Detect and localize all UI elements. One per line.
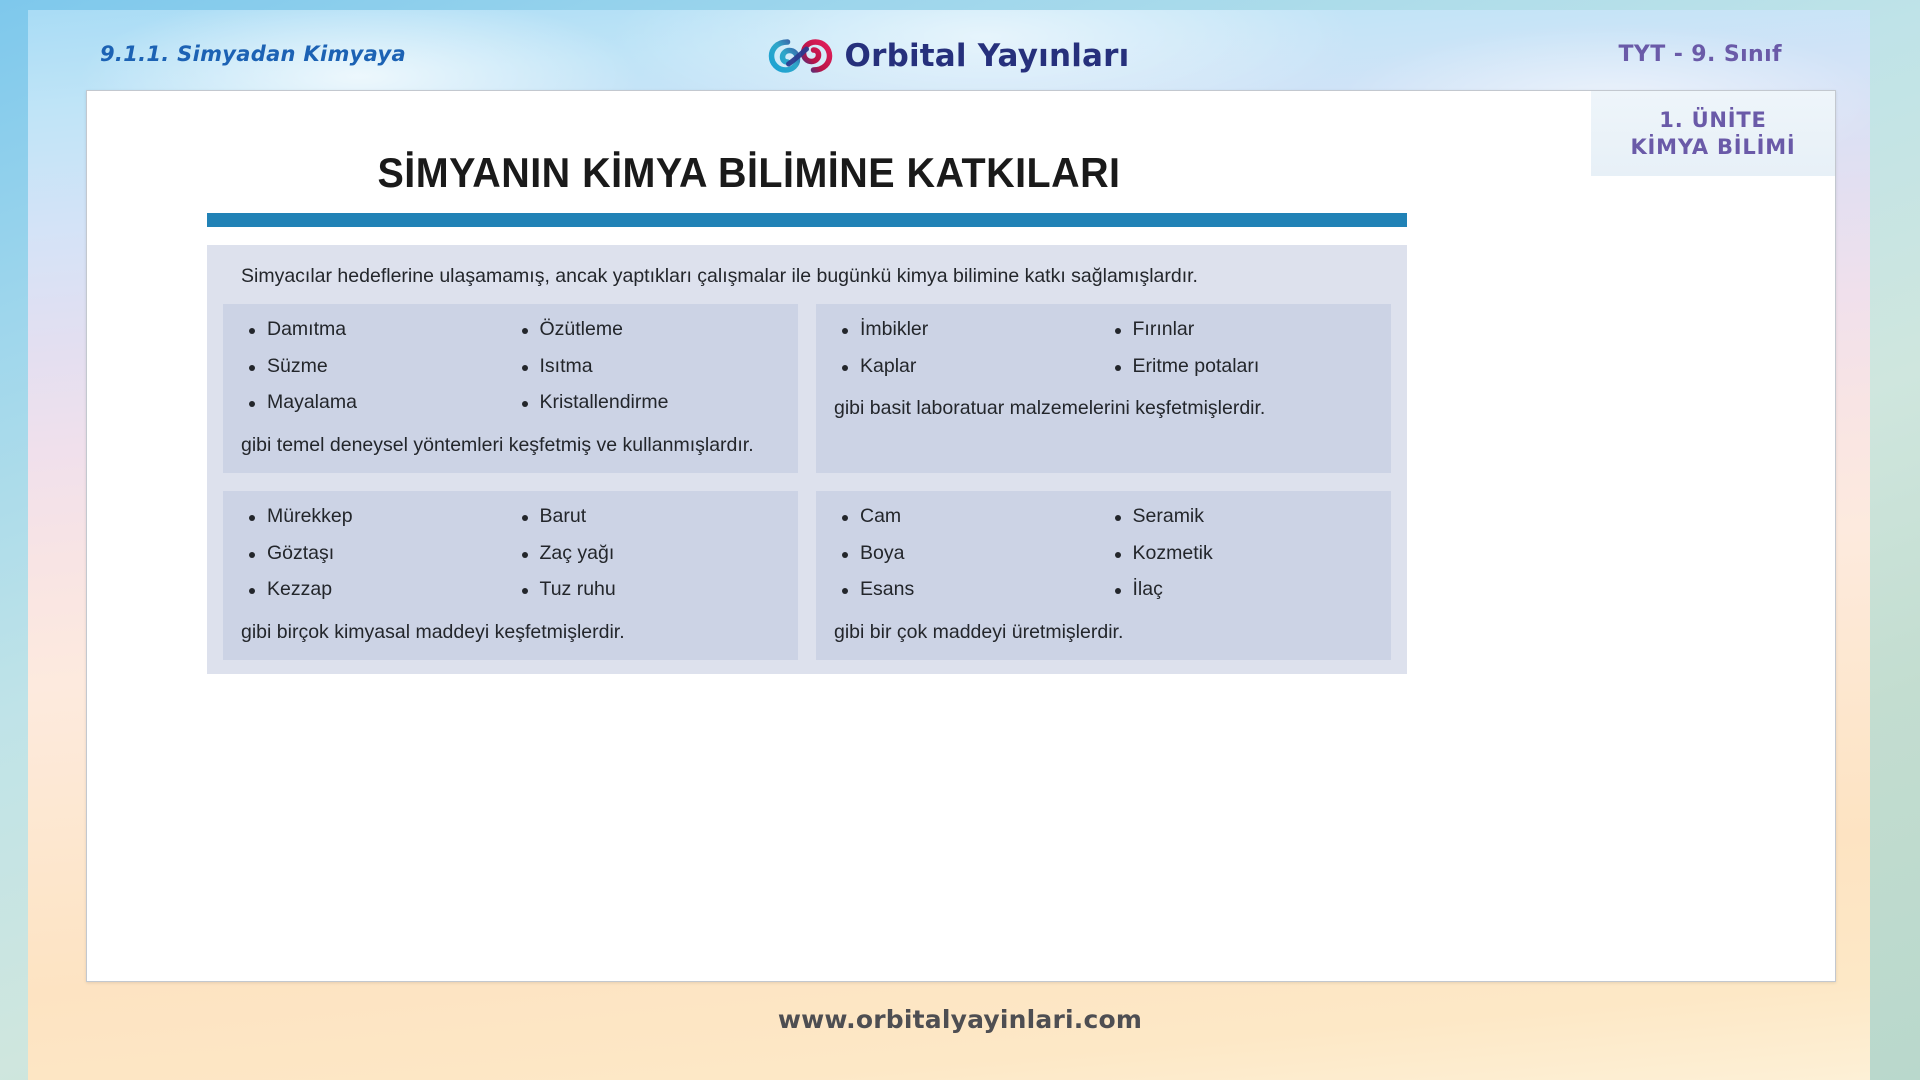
list-item: İmbikler (834, 320, 1101, 340)
quadrant-columns: Cam Boya Esans Seramik Kozmetik İlaç (834, 507, 1373, 617)
list-item: Göztaşı (241, 544, 508, 564)
quadrant-deneysel-yontemler: Damıtma Süzme Mayalama Özütleme Isıtma K… (223, 304, 798, 473)
title-underline-bar (207, 213, 1407, 227)
list-item: Seramik (1107, 507, 1374, 527)
brand-lockup: Orbital Yayınları (769, 36, 1130, 76)
quadrant-column-left: İmbikler Kaplar (834, 320, 1101, 393)
grade-label: TYT - 9. Sınıf (1619, 42, 1782, 67)
list-item: Mürekkep (241, 507, 508, 527)
quadrant-grid: Damıtma Süzme Mayalama Özütleme Isıtma K… (223, 304, 1391, 660)
list-item: Eritme potaları (1107, 357, 1374, 377)
brand-name: Orbital Yayınları (845, 38, 1130, 74)
list-item: Kaplar (834, 357, 1101, 377)
unit-badge-line-1: 1. ÜNİTE (1659, 108, 1766, 132)
slide-root: 9.1.1. Simyadan Kimyaya (0, 0, 1920, 1080)
quadrant-laboratuar-malzemeleri: İmbikler Kaplar Fırınlar Eritme potaları… (816, 304, 1391, 473)
quadrant-caption: gibi birçok kimyasal maddeyi keşfetmişle… (241, 620, 780, 644)
list-item: Fırınlar (1107, 320, 1374, 340)
list-item: Özütleme (514, 320, 781, 340)
page-title: SİMYANIN KİMYA BİLİMİNE KATKILARI (241, 149, 1256, 197)
quadrant-caption: gibi bir çok maddeyi üretmişlerdir. (834, 620, 1373, 644)
slide-sheet: 1. ÜNİTE KİMYA BİLİMİ SİMYANIN KİMYA BİL… (86, 90, 1836, 982)
list-item: Boya (834, 544, 1101, 564)
content-panel: Simyacılar hedeflerine ulaşamamış, ancak… (207, 245, 1407, 674)
quadrant-kimyasal-maddeler: Mürekkep Göztaşı Kezzap Barut Zaç yağı T… (223, 491, 798, 660)
list-item: Mayalama (241, 393, 508, 413)
quadrant-column-right: Özütleme Isıtma Kristallendirme (514, 320, 781, 430)
intro-paragraph: Simyacılar hedeflerine ulaşamamış, ancak… (223, 261, 1391, 304)
list-item: Tuz ruhu (514, 580, 781, 600)
list-item: Zaç yağı (514, 544, 781, 564)
list-item: Barut (514, 507, 781, 527)
list-item: Süzme (241, 357, 508, 377)
quadrant-column-right: Seramik Kozmetik İlaç (1107, 507, 1374, 617)
unit-badge-line-2: KİMYA BİLİMİ (1630, 135, 1795, 159)
quadrant-uretilen-maddeler: Cam Boya Esans Seramik Kozmetik İlaç gib… (816, 491, 1391, 660)
list-item: Kezzap (241, 580, 508, 600)
list-item: Esans (834, 580, 1101, 600)
quadrant-column-right: Barut Zaç yağı Tuz ruhu (514, 507, 781, 617)
topic-label: 9.1.1. Simyadan Kimyaya (100, 42, 406, 66)
quadrant-caption: gibi temel deneysel yöntemleri keşfetmiş… (241, 433, 780, 457)
unit-badge: 1. ÜNİTE KİMYA BİLİMİ (1591, 91, 1835, 176)
slide-header: 9.1.1. Simyadan Kimyaya (28, 10, 1870, 90)
quadrant-caption: gibi basit laboratuar malzemelerini keşf… (834, 396, 1373, 420)
quadrant-column-left: Damıtma Süzme Mayalama (241, 320, 508, 430)
quadrant-columns: Damıtma Süzme Mayalama Özütleme Isıtma K… (241, 320, 780, 430)
quadrant-column-right: Fırınlar Eritme potaları (1107, 320, 1374, 393)
orbital-infinity-logo-icon (769, 36, 833, 76)
list-item: İlaç (1107, 580, 1374, 600)
quadrant-column-left: Mürekkep Göztaşı Kezzap (241, 507, 508, 617)
list-item: Kozmetik (1107, 544, 1374, 564)
footer-website-url[interactable]: www.orbitalyayinlari.com (0, 1005, 1920, 1034)
quadrant-column-left: Cam Boya Esans (834, 507, 1101, 617)
quadrant-columns: İmbikler Kaplar Fırınlar Eritme potaları (834, 320, 1373, 393)
list-item: Isıtma (514, 357, 781, 377)
list-item: Damıtma (241, 320, 508, 340)
list-item: Cam (834, 507, 1101, 527)
quadrant-columns: Mürekkep Göztaşı Kezzap Barut Zaç yağı T… (241, 507, 780, 617)
list-item: Kristallendirme (514, 393, 781, 413)
